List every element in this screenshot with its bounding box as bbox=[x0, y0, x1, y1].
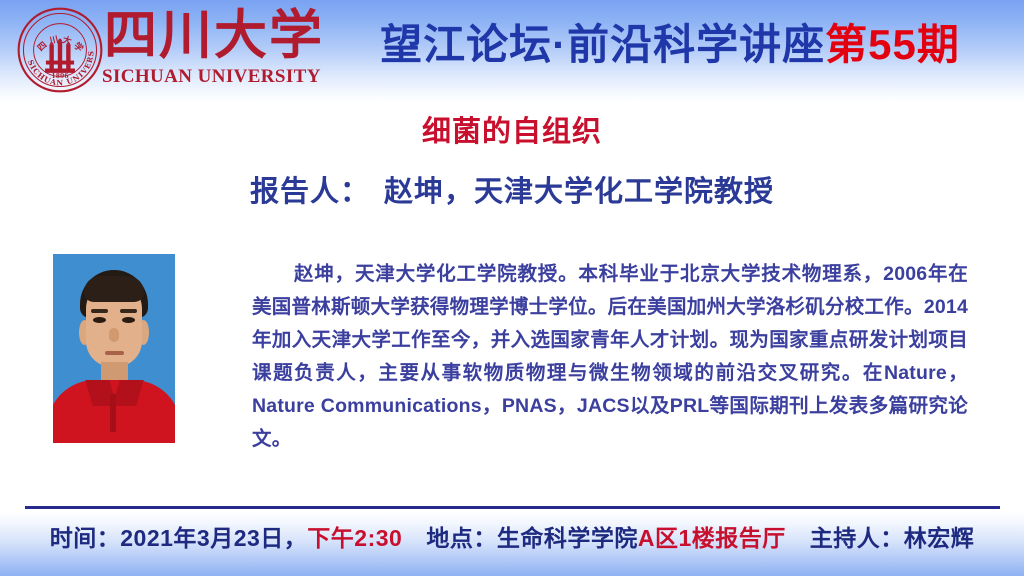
venue-value-highlight: A区1楼报告厅 bbox=[638, 525, 786, 551]
venue-value-primary: 生命科学学院 bbox=[497, 525, 638, 551]
speaker-label: 报告人： bbox=[250, 176, 370, 208]
university-emblem-icon: 四 川 大 学 1896 SICHUAN UNIVERSITY bbox=[16, 6, 104, 94]
wordmark-chinese: 四川大学 bbox=[104, 4, 316, 66]
portrait-eye-left bbox=[93, 317, 106, 323]
portrait-fringe bbox=[84, 276, 144, 302]
portrait-mouth bbox=[105, 351, 124, 355]
portrait-eyebrow-right bbox=[120, 309, 137, 313]
portrait-eye-right bbox=[122, 317, 135, 323]
footer-details: 时间：2021年3月23日，下午2:30地点：生命科学学院A区1楼报告厅主持人：… bbox=[0, 519, 1024, 553]
portrait-nose bbox=[109, 328, 119, 342]
host-label: 主持人： bbox=[810, 525, 904, 551]
wordmark-english: SICHUAN UNIVERSITY bbox=[102, 66, 318, 88]
host-value: 林宏辉 bbox=[904, 525, 975, 551]
series-title-text: 望江论坛·前沿科学讲座 bbox=[380, 21, 825, 68]
portrait-eyebrow-left bbox=[91, 309, 108, 313]
venue-label: 地点： bbox=[426, 525, 497, 551]
lecture-poster: 四 川 大 学 1896 SICHUAN UNIVERSITY bbox=[0, 0, 1024, 576]
speaker-line: 报告人：赵坤，天津大学化工学院教授 bbox=[0, 168, 1024, 210]
time-value: 下午2:30 bbox=[307, 525, 402, 551]
speaker-name-affiliation: 赵坤，天津大学化工学院教授 bbox=[384, 176, 774, 208]
university-logo-block: 四 川 大 学 1896 SICHUAN UNIVERSITY bbox=[8, 2, 318, 100]
portrait-placket bbox=[110, 394, 116, 432]
time-label: 时间： bbox=[50, 525, 121, 551]
footer-divider-rule bbox=[25, 506, 1000, 509]
date-value: 2021年3月23日， bbox=[120, 525, 307, 551]
header-band: 四 川 大 学 1896 SICHUAN UNIVERSITY bbox=[0, 0, 1024, 102]
issue-number-text: 第55期 bbox=[825, 21, 960, 68]
speaker-biography-paragraph: 赵坤，天津大学化工学院教授。本科毕业于北京大学技术物理系，2006年在美国普林斯… bbox=[252, 258, 968, 456]
lecture-title: 细菌的自组织 bbox=[0, 108, 1024, 150]
series-header-title: 望江论坛·前沿科学讲座第55期 bbox=[330, 14, 1010, 76]
speaker-portrait-photo bbox=[53, 254, 175, 443]
